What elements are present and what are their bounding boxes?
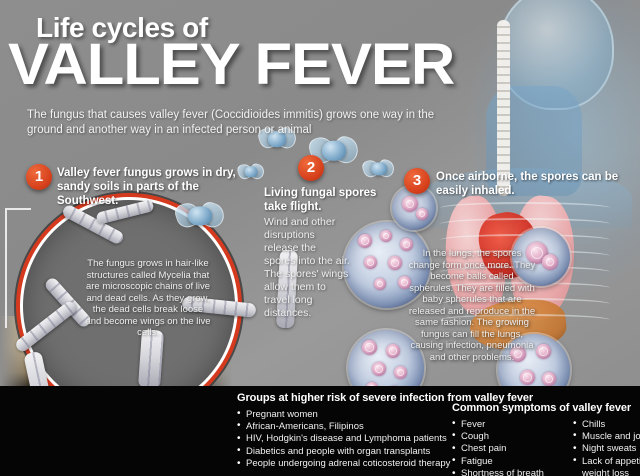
step-1-badge: 1 — [26, 164, 52, 190]
winged-spore-icon — [366, 158, 392, 180]
list-item: Muscle and joint pain — [573, 431, 640, 443]
symptoms-panel: Common symptoms of valley fever Fever Co… — [452, 402, 640, 476]
step-1-headline: Valley fever fungus grows in dry, sandy … — [57, 166, 262, 208]
step-2-headline: Living fungal spores take flight. — [264, 186, 384, 214]
page-subtitle: The fungus that causes valley fever (Coc… — [27, 108, 467, 138]
hypha-filament-icon — [14, 299, 79, 354]
step-3-detail: In the lungs, the spores change form onc… — [408, 248, 536, 363]
list-item: Chills — [573, 419, 640, 431]
list-item: Chest pain — [452, 443, 565, 455]
magnifier-handle — [5, 208, 31, 210]
magnifier-handle-vertical — [5, 208, 7, 328]
list-item: Fever — [452, 419, 565, 431]
list-item: Lack of appetite and weight loss — [573, 456, 640, 476]
step-3-badge: 3 — [404, 168, 430, 194]
step-2-badge: 2 — [298, 155, 324, 181]
infographic-canvas: Life cycles of VALLEY FEVER The fungus t… — [0, 0, 640, 476]
symptoms-list-left: Fever Cough Chest pain Fatigue Shortness… — [452, 419, 565, 476]
list-item: Cough — [452, 431, 565, 443]
page-title: VALLEY FEVER — [8, 36, 454, 94]
step-3-headline: Once airborne, the spores can be easily … — [436, 170, 626, 198]
step-1-detail: The fungus grows in hair-like structures… — [84, 258, 212, 339]
list-item: Night sweats — [573, 443, 640, 455]
symptoms-title: Common symptoms of valley fever — [452, 402, 640, 416]
symptoms-list-right: Chills Muscle and joint pain Night sweat… — [573, 419, 640, 476]
list-item: Shortness of breath — [452, 468, 565, 476]
step-2-detail: Wind and other disruptions release the s… — [264, 216, 350, 320]
list-item: Fatigue — [452, 456, 565, 468]
